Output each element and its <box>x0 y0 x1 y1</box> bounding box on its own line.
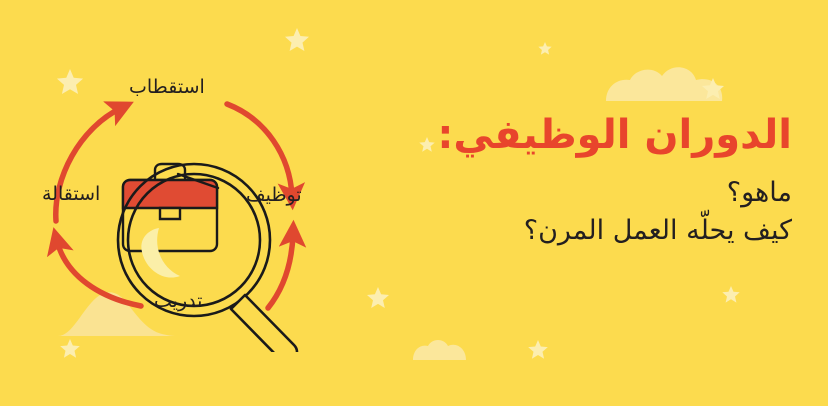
briefcase-latch-icon <box>160 208 180 219</box>
star-icon <box>538 42 551 55</box>
cloud-top-right-shape <box>606 67 722 101</box>
cycle-label-recruitment: استقطاب <box>129 78 205 97</box>
cycle-label-training: تدريب <box>154 292 202 311</box>
page-title: الدوران الوظيفي: <box>372 112 792 158</box>
magnifier-handle-icon <box>231 295 297 352</box>
cycle-label-resignation: استقالة <box>42 185 100 204</box>
briefcase-red-band <box>123 180 217 208</box>
star-icon <box>528 340 548 359</box>
cycle-label-hiring: توظيف <box>246 186 302 205</box>
headline-block: الدوران الوظيفي: ماهو؟ كيف يحلّه العمل ا… <box>372 112 792 251</box>
subtitle-line-1: ماهو؟ <box>372 174 792 212</box>
subtitle-line-2: كيف يحلّه العمل المرن؟ <box>372 212 792 250</box>
arrow-recruitment-to-hiring <box>227 104 292 196</box>
star-icon <box>702 78 724 99</box>
poster-canvas: استقطاب توظيف تدريب استقالة الدوران الوظ… <box>0 0 828 406</box>
star-icon <box>367 287 389 308</box>
star-icon <box>722 286 739 303</box>
star-icon <box>285 28 309 51</box>
employee-turnover-cycle-diagram: استقطاب توظيف تدريب استقالة <box>28 56 358 352</box>
cloud-bottom-shape <box>413 340 466 360</box>
arrow-training-to-hiring <box>268 234 293 308</box>
